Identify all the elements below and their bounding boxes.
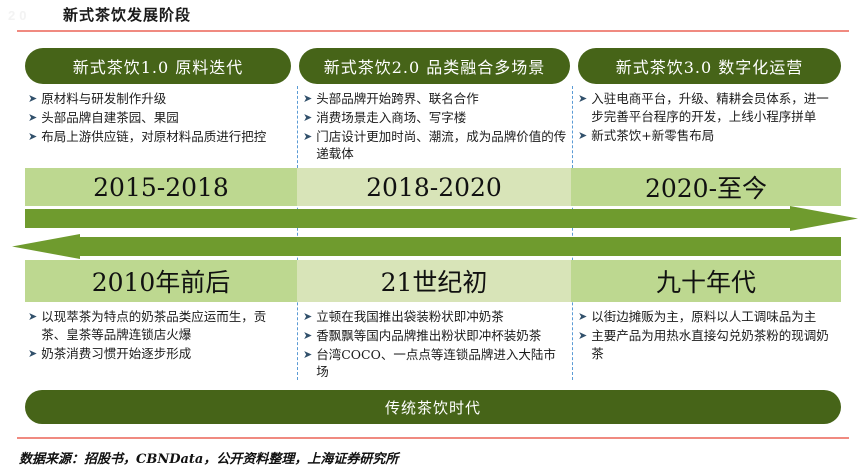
list-item-text: 门店设计更加时尚、潮流，成为品牌价值的传递载体 — [316, 128, 567, 164]
stage-header-1[interactable]: 新式茶饮1.0 原料迭代 — [25, 48, 291, 84]
list-item: ➤ 香飘飘等国内品牌推出粉状即冲杯装奶茶 — [303, 327, 567, 345]
bullet-arrow-icon: ➤ — [28, 308, 37, 325]
list-item-text: 香飘飘等国内品牌推出粉状即冲杯装奶茶 — [316, 327, 567, 345]
list-item: ➤ 头部品牌自建茶园、果园 — [28, 109, 290, 127]
period-label: 21世纪初 — [381, 263, 488, 299]
bullet-arrow-icon: ➤ — [578, 127, 587, 144]
list-item-text: 原材料与研发制作升级 — [41, 90, 290, 108]
list-item: ➤ 台湾COCO、一点点等连锁品牌进入大陆市场 — [303, 346, 567, 382]
top-bullets-column-3: ➤ 入驻电商平台，升级、精耕会员体系，进一步完善平台程序的开发，上线小程序拼单 … — [578, 90, 840, 145]
stage-header-3-label: 新式茶饮3.0 数字化运营 — [616, 54, 804, 78]
period-cell-5: 21世纪初 — [297, 260, 571, 302]
list-item: ➤ 布局上游供应链，对原材料品质进行把控 — [28, 128, 290, 146]
bottom-divider-rule — [17, 437, 849, 439]
list-item: ➤ 头部品牌开始跨界、联名合作 — [303, 90, 567, 108]
stage-header-2-label: 新式茶饮2.0 品类融合多场景 — [324, 54, 546, 78]
bullet-arrow-icon: ➤ — [28, 90, 37, 107]
column-divider-2 — [572, 86, 573, 173]
period-cell-6: 九十年代 — [571, 260, 841, 302]
backward-timeline-arrow — [0, 234, 866, 260]
source-note: 数据来源：招股书，CBNData，公开资料整理，上海证券研究所 — [19, 448, 398, 467]
period-label: 2018-2020 — [366, 173, 502, 202]
page-number-watermark: 20 — [8, 8, 30, 23]
list-item-text: 以街边摊贩为主，原料以人工调味品为主 — [591, 308, 840, 326]
column-divider-1 — [297, 86, 298, 173]
list-item: ➤ 奶茶消费习惯开始逐步形成 — [28, 345, 290, 363]
list-item-text: 立顿在我国推出袋装粉状即冲奶茶 — [316, 308, 567, 326]
traditional-era-label: 传统茶饮时代 — [385, 397, 481, 418]
bullet-arrow-icon: ➤ — [303, 346, 312, 363]
list-item: ➤ 消费场景走入商场、写字楼 — [303, 109, 567, 127]
list-item: ➤ 以现萃茶为特点的奶茶品类应运而生，贡茶、皇茶等品牌连锁店火爆 — [28, 308, 290, 344]
list-item: ➤ 入驻电商平台，升级、精耕会员体系，进一步完善平台程序的开发，上线小程序拼单 — [578, 90, 840, 126]
list-item: ➤ 门店设计更加时尚、潮流，成为品牌价值的传递载体 — [303, 128, 567, 164]
list-item-text: 主要产品为用热水直接勾兑奶茶粉的现调奶茶 — [591, 327, 840, 363]
bottom-bullets-column-2: ➤ 立顿在我国推出袋装粉状即冲奶茶 ➤ 香飘飘等国内品牌推出粉状即冲杯装奶茶 ➤… — [303, 308, 567, 382]
stage-header-3[interactable]: 新式茶饮3.0 数字化运营 — [578, 48, 841, 84]
list-item: ➤ 立顿在我国推出袋装粉状即冲奶茶 — [303, 308, 567, 326]
bullet-arrow-icon: ➤ — [578, 308, 587, 325]
list-item-text: 布局上游供应链，对原材料品质进行把控 — [41, 128, 290, 146]
stage-header-1-label: 新式茶饮1.0 原料迭代 — [73, 54, 244, 78]
list-item-text: 消费场景走入商场、写字楼 — [316, 109, 567, 127]
lower-period-band: 2010年前后 21世纪初 九十年代 — [25, 260, 841, 302]
bullet-arrow-icon: ➤ — [578, 327, 587, 344]
slide: 20 新式茶饮发展阶段 新式茶饮1.0 原料迭代 新式茶饮2.0 品类融合多场景… — [0, 0, 866, 474]
top-divider-rule — [17, 30, 849, 32]
list-item-text: 头部品牌开始跨界、联名合作 — [316, 90, 567, 108]
list-item-text: 入驻电商平台，升级、精耕会员体系，进一步完善平台程序的开发，上线小程序拼单 — [591, 90, 840, 126]
list-item: ➤ 原材料与研发制作升级 — [28, 90, 290, 108]
bottom-bullets-column-3: ➤ 以街边摊贩为主，原料以人工调味品为主 ➤ 主要产品为用热水直接勾兑奶茶粉的现… — [578, 308, 840, 363]
top-bullets-column-2: ➤ 头部品牌开始跨界、联名合作 ➤ 消费场景走入商场、写字楼 ➤ 门店设计更加时… — [303, 90, 567, 164]
top-bullets-column-1: ➤ 原材料与研发制作升级 ➤ 头部品牌自建茶园、果园 ➤ 布局上游供应链，对原材… — [28, 90, 290, 146]
period-cell-2: 2018-2020 — [297, 168, 571, 206]
page-title: 新式茶饮发展阶段 — [63, 4, 191, 25]
bullet-arrow-icon: ➤ — [303, 128, 312, 145]
list-item-text: 以现萃茶为特点的奶茶品类应运而生，贡茶、皇茶等品牌连锁店火爆 — [41, 308, 290, 344]
period-label: 九十年代 — [656, 263, 756, 299]
list-item: ➤ 主要产品为用热水直接勾兑奶茶粉的现调奶茶 — [578, 327, 840, 363]
period-cell-3: 2020-至今 — [571, 168, 841, 206]
list-item-text: 头部品牌自建茶园、果园 — [41, 109, 290, 127]
bullet-arrow-icon: ➤ — [303, 90, 312, 107]
bottom-bullets-column-1: ➤ 以现萃茶为特点的奶茶品类应运而生，贡茶、皇茶等品牌连锁店火爆 ➤ 奶茶消费习… — [28, 308, 290, 363]
bullet-arrow-icon: ➤ — [303, 308, 312, 325]
bullet-arrow-icon: ➤ — [28, 345, 37, 362]
list-item: ➤ 以街边摊贩为主，原料以人工调味品为主 — [578, 308, 840, 326]
period-cell-1: 2015-2018 — [25, 168, 297, 206]
forward-timeline-arrow — [0, 206, 866, 232]
bullet-arrow-icon: ➤ — [303, 109, 312, 126]
bullet-arrow-icon: ➤ — [28, 128, 37, 145]
period-label: 2020-至今 — [645, 169, 767, 205]
bullet-arrow-icon: ➤ — [303, 327, 312, 344]
period-label: 2015-2018 — [93, 173, 229, 202]
timeline-diagram: 新式茶饮1.0 原料迭代 新式茶饮2.0 品类融合多场景 新式茶饮3.0 数字化… — [0, 38, 866, 434]
period-cell-4: 2010年前后 — [25, 260, 297, 302]
upper-period-band: 2015-2018 2018-2020 2020-至今 — [25, 168, 841, 206]
period-label: 2010年前后 — [92, 263, 231, 299]
list-item-text: 新式茶饮+新零售布局 — [591, 127, 840, 145]
bullet-arrow-icon: ➤ — [28, 109, 37, 126]
list-item-text: 奶茶消费习惯开始逐步形成 — [41, 345, 290, 363]
bullet-arrow-icon: ➤ — [578, 90, 587, 107]
traditional-era-bar[interactable]: 传统茶饮时代 — [25, 390, 841, 424]
stage-header-2[interactable]: 新式茶饮2.0 品类融合多场景 — [299, 48, 570, 84]
list-item: ➤ 新式茶饮+新零售布局 — [578, 127, 840, 145]
list-item-text: 台湾COCO、一点点等连锁品牌进入大陆市场 — [316, 346, 567, 382]
